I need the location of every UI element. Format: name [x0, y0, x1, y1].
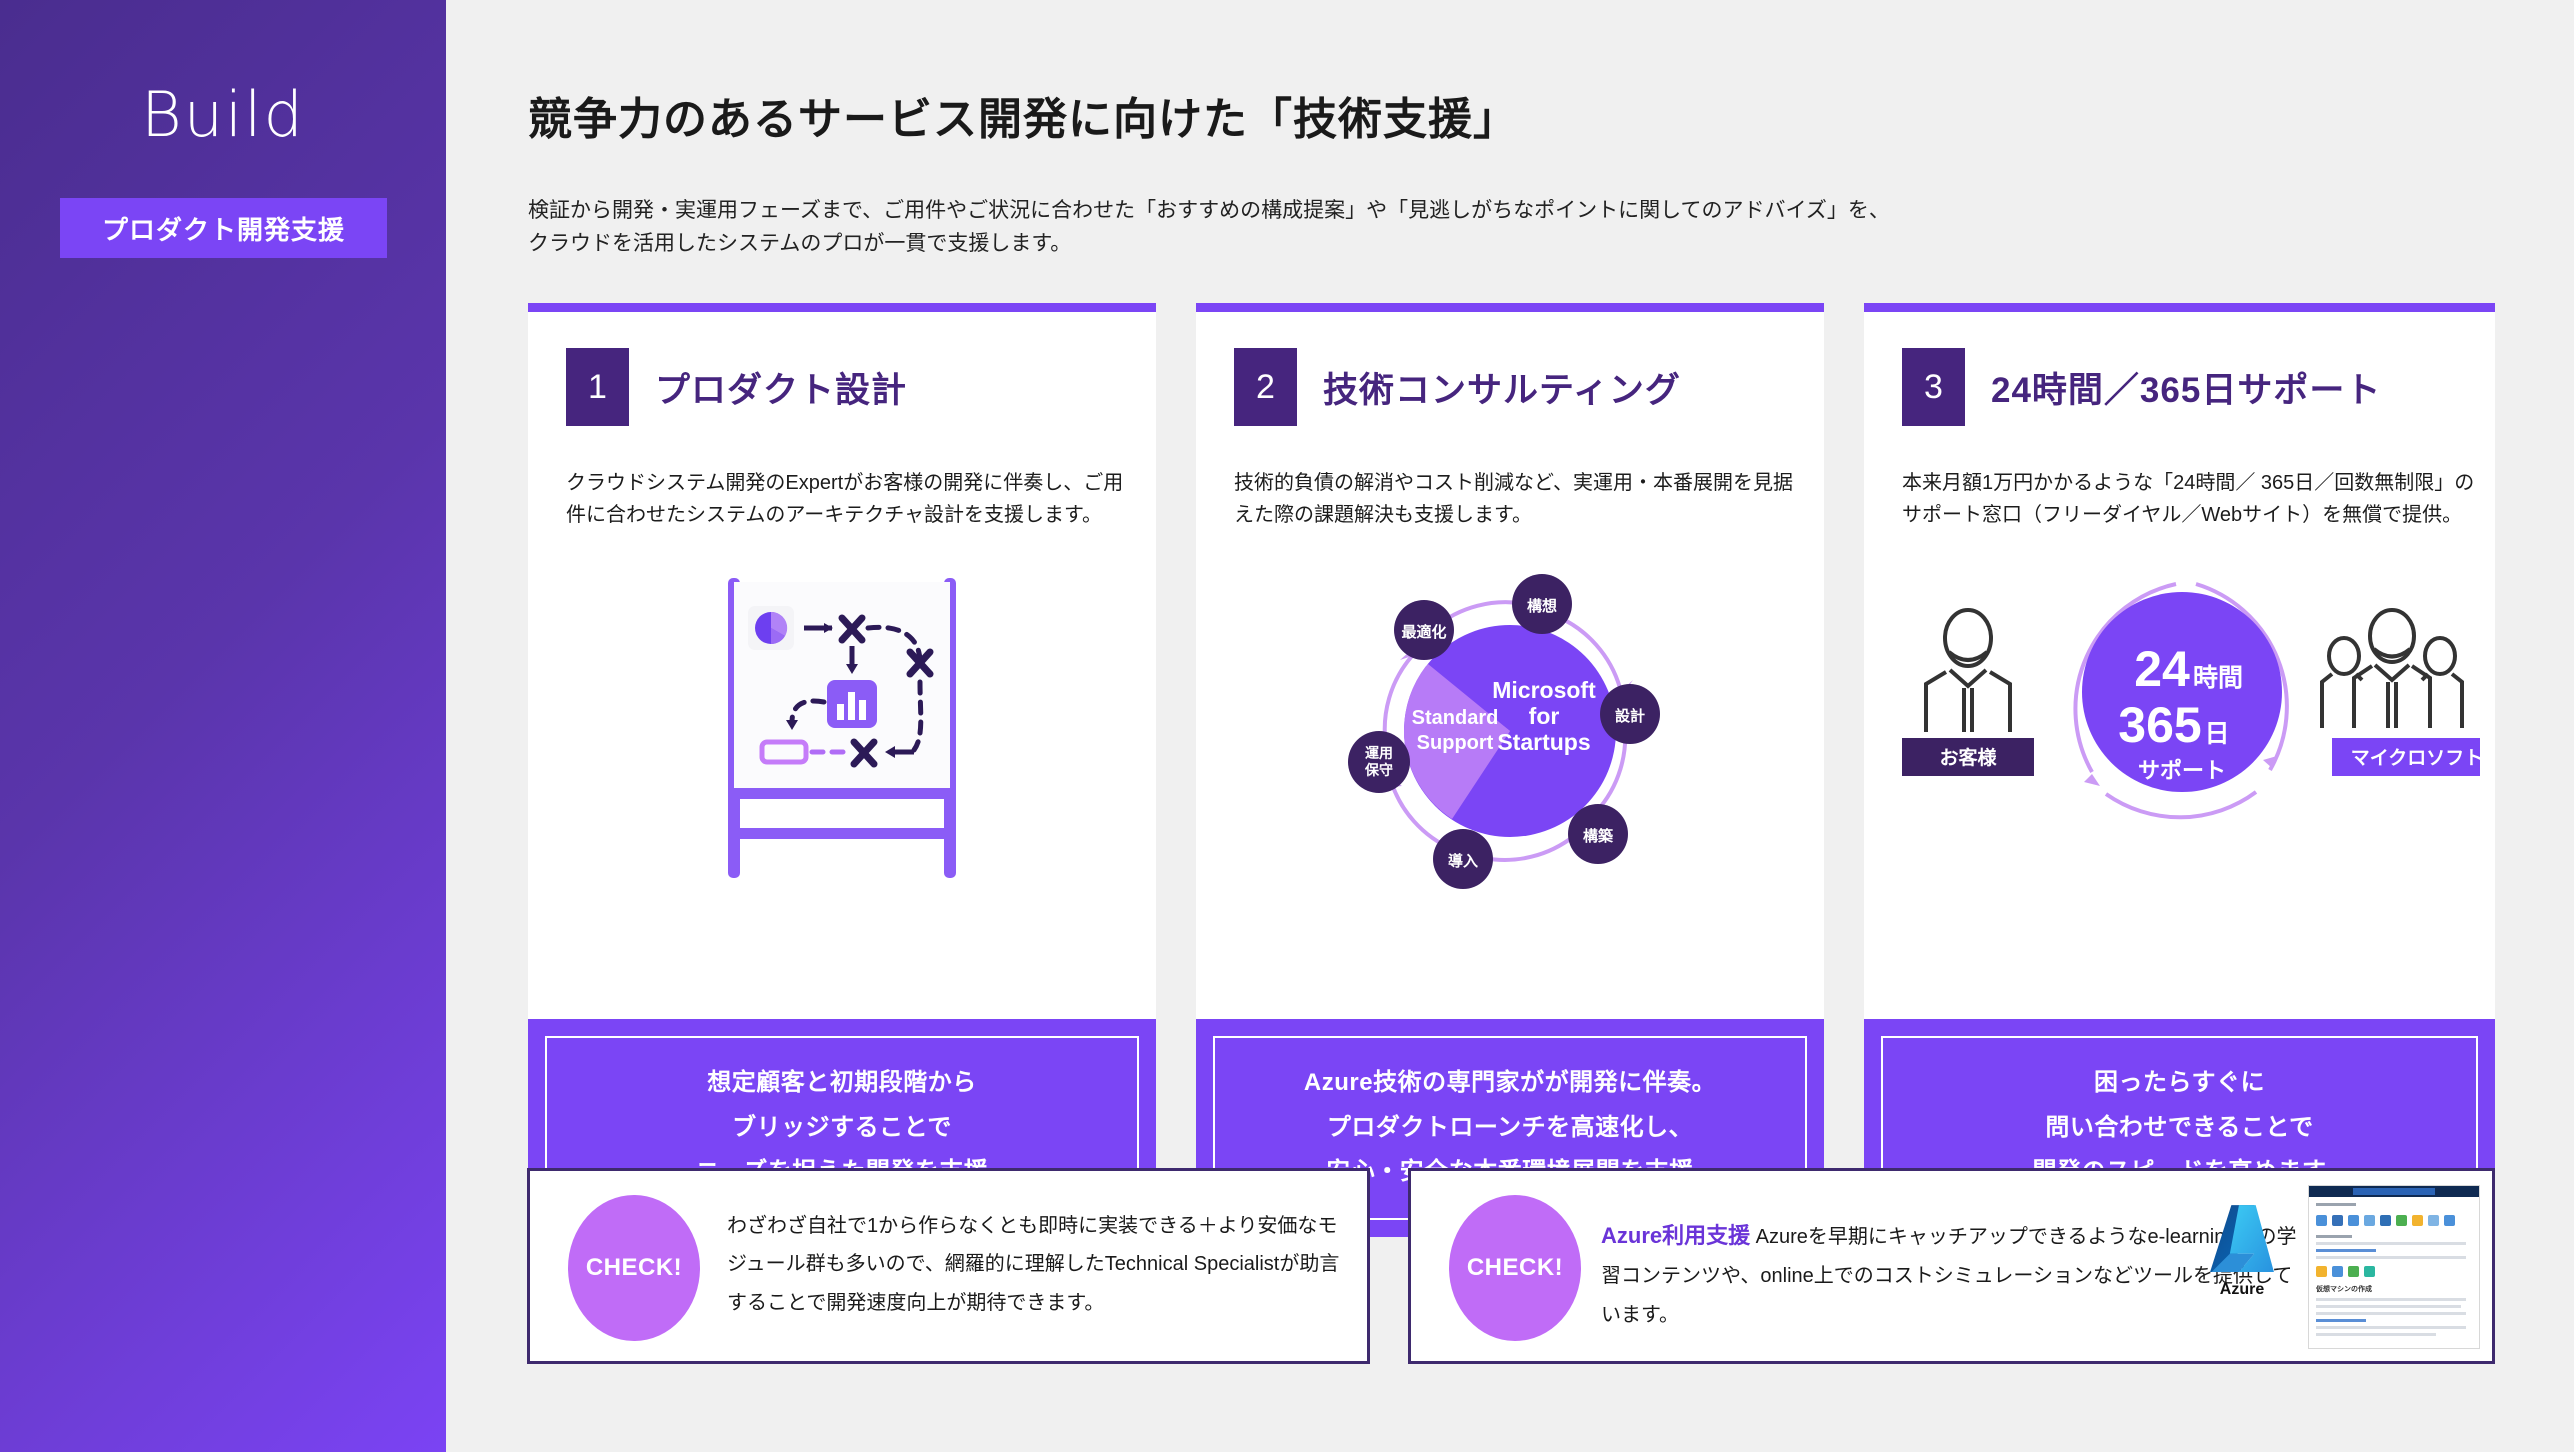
- support-caption: サポート: [2137, 758, 2225, 783]
- cycle-node-saitekika: 最適化: [1394, 600, 1454, 660]
- screenshot-topbar: [2309, 1186, 2479, 1197]
- cycle-node-dounyuu: 導入: [1433, 829, 1493, 889]
- cycle-center-line1: Microsoft: [1492, 677, 1596, 703]
- card-number-badge: 3: [1902, 348, 1965, 426]
- card-title: 24時間／365日サポート: [1991, 362, 2381, 413]
- customer-person-icon: [1926, 610, 2010, 732]
- sidebar: Build プロダクト開発支援: [0, 0, 446, 1452]
- support-hours-number: 24: [2134, 641, 2190, 697]
- easel-icon: [692, 570, 992, 890]
- sidebar-badge: プロダクト開発支援: [60, 198, 387, 258]
- svg-text:保守: 保守: [1364, 762, 1393, 778]
- check-box-modules: CHECK! わざわざ自社で1から作らなくとも即時に実装できる＋より安価なモジュ…: [527, 1168, 1370, 1364]
- support-diagram: 24 時間 365 日 サポート お客様: [1864, 582, 2495, 902]
- azure-portal-screenshot: 仮想マシンの作成: [2308, 1185, 2480, 1349]
- card-description: クラウドシステム開発のExpertがお客様の開発に伴奏し、ご用件に合わせたシステ…: [566, 467, 1130, 532]
- cycle-wedge-line1: Standard: [1412, 707, 1499, 729]
- svg-text:運用: 運用: [1365, 745, 1393, 761]
- card-technical-consulting: 2 技術コンサルティング 技術的負債の解消やコスト削減など、実運用・本番展開を見…: [1196, 303, 1824, 1109]
- azure-logo: Azure: [2192, 1199, 2292, 1299]
- card-number-badge: 2: [1234, 348, 1297, 426]
- support-days-number: 365: [2118, 697, 2201, 753]
- card-support: 3 24時間／365日サポート 本来月額1万円かかるような「24時間／ 365日…: [1864, 303, 2495, 1109]
- check-box-azure: CHECK! Azure利用支援 Azureを早期にキャッチアップできるようなe…: [1408, 1168, 2495, 1364]
- check-text: わざわざ自社で1から作らなくとも即時に実装できる＋より安価なモジュール群も多いの…: [727, 1207, 1357, 1322]
- check-heading: Azure利用支援: [1601, 1223, 1750, 1248]
- screenshot-icon-row: [2309, 1210, 2479, 1231]
- svg-text:最適化: 最適化: [1401, 623, 1446, 641]
- card-number-badge: 1: [566, 348, 629, 426]
- card-header: 1 プロダクト設計: [566, 348, 907, 426]
- lifecycle-diagram: Microsoft for Startups Standard Support …: [1196, 582, 1824, 902]
- customer-label: お客様: [1939, 746, 1997, 769]
- card-product-design: 1 プロダクト設計 クラウドシステム開発のExpertがお客様の開発に伴奏し、ご…: [528, 303, 1156, 1109]
- support-hours-unit: 時間: [2192, 663, 2242, 692]
- card-description: 本来月額1万円かかるような「24時間／ 365日／回数無制限」のサポート窓口（フ…: [1902, 467, 2477, 532]
- cycle-node-unyouhoshu: 運用 保守: [1348, 731, 1410, 793]
- cycle-center-line3: Startups: [1497, 729, 1590, 755]
- easel-diagram: [528, 582, 1156, 902]
- cycle-node-sekkei: 設計: [1600, 684, 1660, 744]
- card-header: 2 技術コンサルティング: [1234, 348, 1681, 426]
- page-subtitle: 検証から開発・実運用フェーズまで、ご用件やご状況に合わせた「おすすめの構成提案」…: [528, 195, 1890, 260]
- cycle-node-kousou: 構想: [1512, 574, 1572, 634]
- card-description: 技術的負債の解消やコスト削減など、実運用・本番展開を見据えた際の課題解決も支援し…: [1234, 467, 1798, 532]
- screenshot-heading: 仮想マシンの作成: [2316, 1284, 2472, 1294]
- cycle-node-kouchiku: 構築: [1568, 804, 1628, 864]
- cycle-center-line2: for: [1529, 703, 1560, 729]
- card-title: 技術コンサルティング: [1323, 362, 1681, 413]
- page-title: 競争力のあるサービス開発に向けた「技術支援」: [528, 83, 1518, 147]
- azure-logo-label: Azure: [2220, 1281, 2264, 1299]
- sidebar-title: Build: [0, 78, 446, 151]
- svg-text:構想: 構想: [1527, 597, 1557, 615]
- cycle-icon: Microsoft for Startups Standard Support …: [1330, 564, 1690, 894]
- slide-root: Build プロダクト開発支援 競争力のあるサービス開発に向けた「技術支援」 検…: [0, 0, 2574, 1452]
- check-badge: CHECK!: [1449, 1195, 1581, 1341]
- cycle-wedge-line2: Support: [1417, 732, 1494, 754]
- svg-text:構築: 構築: [1583, 827, 1614, 845]
- azure-logo-icon: [2204, 1199, 2280, 1275]
- check-badge: CHECK!: [568, 1195, 700, 1341]
- svg-text:設計: 設計: [1615, 707, 1645, 725]
- card-header: 3 24時間／365日サポート: [1902, 348, 2381, 426]
- microsoft-label: マイクロソフト: [2350, 747, 2479, 769]
- svg-text:導入: 導入: [1448, 852, 1478, 870]
- microsoft-team-icon: [2322, 610, 2462, 728]
- support-days-unit: 日: [2204, 720, 2229, 748]
- card-title: プロダクト設計: [655, 362, 907, 413]
- support-cycle-icon: 24 時間 365 日 サポート お客様: [1880, 560, 2480, 890]
